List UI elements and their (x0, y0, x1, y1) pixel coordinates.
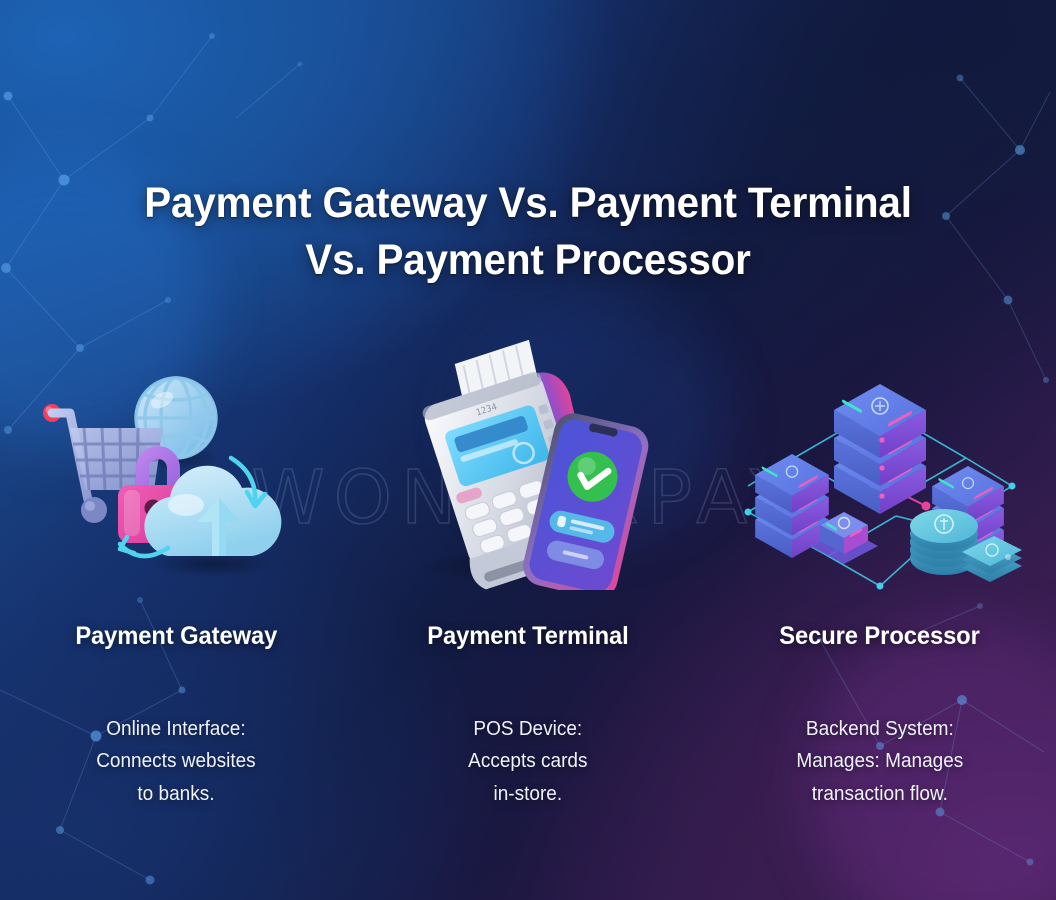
desc-line: in-store. (468, 778, 587, 810)
column-payment-gateway: Payment Gateway Online Interface: Connec… (0, 340, 352, 860)
column-description-payment-gateway: Online Interface: Connects websites to b… (96, 713, 255, 810)
infographic-canvas: WONDERPAY Payment Gateway Vs. Payment Te… (0, 0, 1056, 900)
desc-line: Backend System: (797, 713, 964, 745)
comparison-columns: Payment Gateway Online Interface: Connec… (0, 340, 1056, 860)
coin-stack-icon (910, 509, 1022, 582)
payment-terminal-illustration: 1234 (378, 340, 678, 590)
column-secure-processor: Secure Processor Backend System: Manages… (704, 340, 1056, 860)
desc-line: Accepts cards (468, 745, 587, 777)
column-payment-terminal: 1234 (352, 340, 704, 860)
server-stack-icon (834, 384, 926, 514)
page-title: Payment Gateway Vs. Payment Terminal Vs.… (32, 175, 1025, 289)
cloud-upload-icon (144, 466, 281, 577)
column-heading-payment-terminal: Payment Terminal (427, 622, 628, 651)
column-description-secure-processor: Backend System: Manages: Manages transac… (797, 713, 964, 810)
column-heading-payment-gateway: Payment Gateway (75, 622, 277, 651)
column-description-payment-terminal: POS Device: Accepts cards in-store. (468, 713, 587, 810)
desc-line: Connects websites (96, 745, 255, 777)
desc-line: to banks. (96, 778, 255, 810)
secure-processor-illustration (730, 340, 1030, 590)
desc-line: Manages: Manages (797, 745, 964, 777)
desc-line: POS Device: (468, 713, 587, 745)
page-title-line-1: Payment Gateway Vs. Payment Terminal (32, 175, 1025, 232)
desc-line: Online Interface: (96, 713, 255, 745)
page-title-line-2: Vs. Payment Processor (32, 232, 1025, 289)
desc-line: transaction flow. (797, 778, 964, 810)
column-heading-secure-processor: Secure Processor (780, 622, 980, 651)
payment-gateway-illustration (26, 340, 326, 590)
